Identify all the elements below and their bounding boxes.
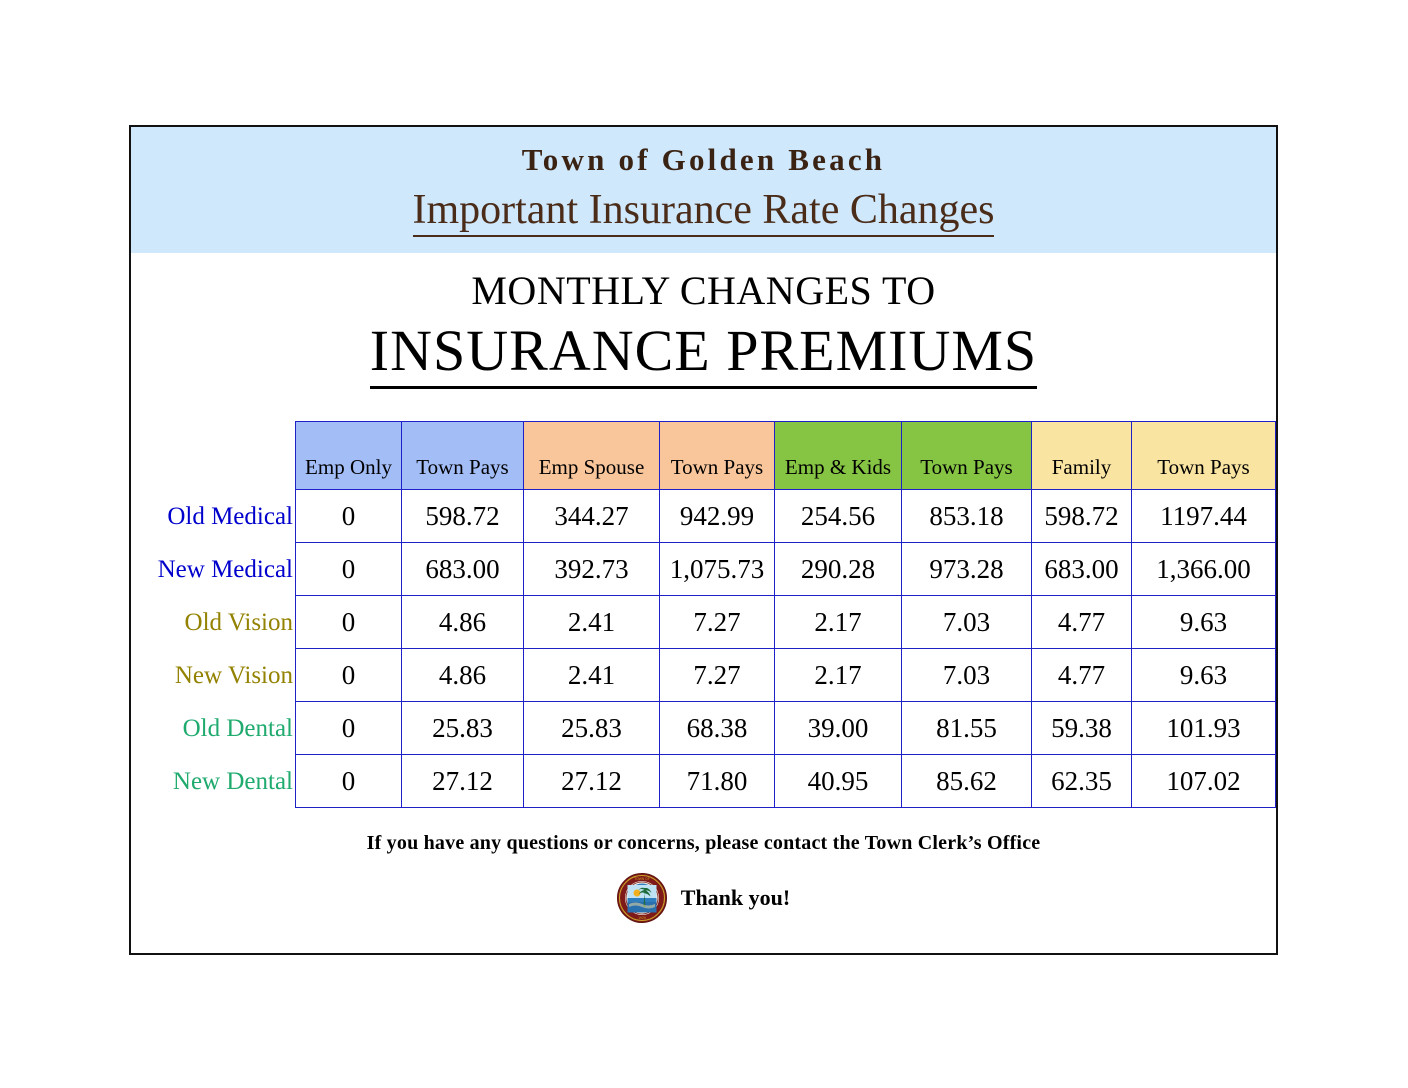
column-header-town-pays-4: Town Pays [1132, 422, 1276, 490]
table-header-row: Emp Only Town Pays Emp Spouse Town Pays … [296, 422, 1276, 490]
thank-you-text: Thank you! [681, 885, 790, 911]
footer: If you have any questions or concerns, p… [131, 832, 1276, 923]
row-label-new-medical: New Medical [131, 543, 295, 596]
insurance-premiums-table: Emp Only Town Pays Emp Spouse Town Pays … [295, 421, 1276, 808]
cell-old-vision-emp-kids: 2.17 [775, 596, 902, 649]
row-label-new-dental: New Dental [131, 755, 295, 808]
cell-new-medical-emp-spouse: 392.73 [524, 543, 660, 596]
page-title-line2-text: INSURANCE PREMIUMS [370, 318, 1037, 389]
cell-new-vision-town-pays-1: 4.86 [402, 649, 524, 702]
cell-old-medical-emp-spouse: 344.27 [524, 490, 660, 543]
cell-new-dental-town-pays-2: 71.80 [660, 755, 775, 808]
cell-old-dental-emp-kids: 39.00 [775, 702, 902, 755]
cell-new-dental-emp-only: 0 [296, 755, 402, 808]
table-row: 0 4.86 2.41 7.27 2.17 7.03 4.77 9.63 [296, 596, 1276, 649]
banner-subtitle: Important Insurance Rate Changes [131, 178, 1276, 237]
table-row: 0 27.12 27.12 71.80 40.95 85.62 62.35 10… [296, 755, 1276, 808]
rates-table-wrapper: Emp Only Town Pays Emp Spouse Town Pays … [295, 421, 1275, 808]
cell-old-vision-emp-only: 0 [296, 596, 402, 649]
cell-old-medical-town-pays-2: 942.99 [660, 490, 775, 543]
cell-new-dental-town-pays-1: 27.12 [402, 755, 524, 808]
cell-new-dental-town-pays-3: 85.62 [902, 755, 1032, 808]
cell-old-dental-town-pays-1: 25.83 [402, 702, 524, 755]
thank-you-row: TOWN OF 1929 Thank you! [131, 873, 1276, 923]
cell-old-medical-emp-kids: 254.56 [775, 490, 902, 543]
column-header-emp-spouse: Emp Spouse [524, 422, 660, 490]
organization-name: Town of Golden Beach [131, 127, 1276, 178]
svg-text:1929: 1929 [638, 916, 646, 920]
cell-new-medical-town-pays-4: 1,366.00 [1132, 543, 1276, 596]
title-banner: Town of Golden Beach Important Insurance… [131, 127, 1276, 253]
cell-new-medical-town-pays-3: 973.28 [902, 543, 1032, 596]
cell-old-dental-emp-spouse: 25.83 [524, 702, 660, 755]
cell-new-vision-town-pays-2: 7.27 [660, 649, 775, 702]
cell-new-vision-family: 4.77 [1032, 649, 1132, 702]
cell-old-vision-family: 4.77 [1032, 596, 1132, 649]
cell-new-vision-emp-only: 0 [296, 649, 402, 702]
cell-old-medical-town-pays-1: 598.72 [402, 490, 524, 543]
column-header-town-pays-1: Town Pays [402, 422, 524, 490]
cell-old-dental-family: 59.38 [1032, 702, 1132, 755]
row-label-old-dental: Old Dental [131, 702, 295, 755]
row-label-old-medical: Old Medical [131, 490, 295, 543]
cell-old-dental-town-pays-3: 81.55 [902, 702, 1032, 755]
table-row: 0 4.86 2.41 7.27 2.17 7.03 4.77 9.63 [296, 649, 1276, 702]
town-seal-icon: TOWN OF 1929 [617, 873, 667, 923]
cell-old-vision-town-pays-1: 4.86 [402, 596, 524, 649]
cell-new-vision-emp-spouse: 2.41 [524, 649, 660, 702]
cell-new-dental-family: 62.35 [1032, 755, 1132, 808]
column-header-emp-only: Emp Only [296, 422, 402, 490]
cell-old-vision-town-pays-2: 7.27 [660, 596, 775, 649]
svg-text:TOWN OF: TOWN OF [634, 877, 650, 881]
cell-old-vision-town-pays-4: 9.63 [1132, 596, 1276, 649]
page-title-line2: INSURANCE PREMIUMS [131, 314, 1276, 384]
banner-subtitle-text: Important Insurance Rate Changes [413, 187, 995, 237]
cell-old-vision-town-pays-3: 7.03 [902, 596, 1032, 649]
table-row: 0 683.00 392.73 1,075.73 290.28 973.28 6… [296, 543, 1276, 596]
cell-new-dental-emp-kids: 40.95 [775, 755, 902, 808]
cell-new-vision-town-pays-3: 7.03 [902, 649, 1032, 702]
flyer-card: Town of Golden Beach Important Insurance… [129, 125, 1278, 955]
cell-old-medical-family: 598.72 [1032, 490, 1132, 543]
cell-old-medical-town-pays-3: 853.18 [902, 490, 1032, 543]
cell-old-dental-emp-only: 0 [296, 702, 402, 755]
table-row: 0 598.72 344.27 942.99 254.56 853.18 598… [296, 490, 1276, 543]
row-label-new-vision: New Vision [131, 649, 295, 702]
table-row: 0 25.83 25.83 68.38 39.00 81.55 59.38 10… [296, 702, 1276, 755]
cell-new-dental-town-pays-4: 107.02 [1132, 755, 1276, 808]
cell-new-medical-emp-only: 0 [296, 543, 402, 596]
cell-new-dental-emp-spouse: 27.12 [524, 755, 660, 808]
cell-old-dental-town-pays-4: 101.93 [1132, 702, 1276, 755]
cell-old-vision-emp-spouse: 2.41 [524, 596, 660, 649]
cell-new-medical-family: 683.00 [1032, 543, 1132, 596]
column-header-town-pays-2: Town Pays [660, 422, 775, 490]
footer-contact-note: If you have any questions or concerns, p… [131, 832, 1276, 855]
cell-new-medical-emp-kids: 290.28 [775, 543, 902, 596]
column-header-family: Family [1032, 422, 1132, 490]
insurance-rate-changes-flyer: Town of Golden Beach Important Insurance… [0, 0, 1408, 1088]
cell-new-vision-emp-kids: 2.17 [775, 649, 902, 702]
row-label-column: Old Medical New Medical Old Vision New V… [131, 490, 295, 808]
cell-old-medical-town-pays-4: 1197.44 [1132, 490, 1276, 543]
cell-new-medical-town-pays-2: 1,075.73 [660, 543, 775, 596]
row-label-old-vision: Old Vision [131, 596, 295, 649]
cell-old-medical-emp-only: 0 [296, 490, 402, 543]
page-title: MONTHLY CHANGES TO INSURANCE PREMIUMS [131, 267, 1276, 384]
cell-old-dental-town-pays-2: 68.38 [660, 702, 775, 755]
cell-new-vision-town-pays-4: 9.63 [1132, 649, 1276, 702]
page-title-line1: MONTHLY CHANGES TO [131, 267, 1276, 314]
cell-new-medical-town-pays-1: 683.00 [402, 543, 524, 596]
column-header-town-pays-3: Town Pays [902, 422, 1032, 490]
column-header-emp-and-kids: Emp & Kids [775, 422, 902, 490]
